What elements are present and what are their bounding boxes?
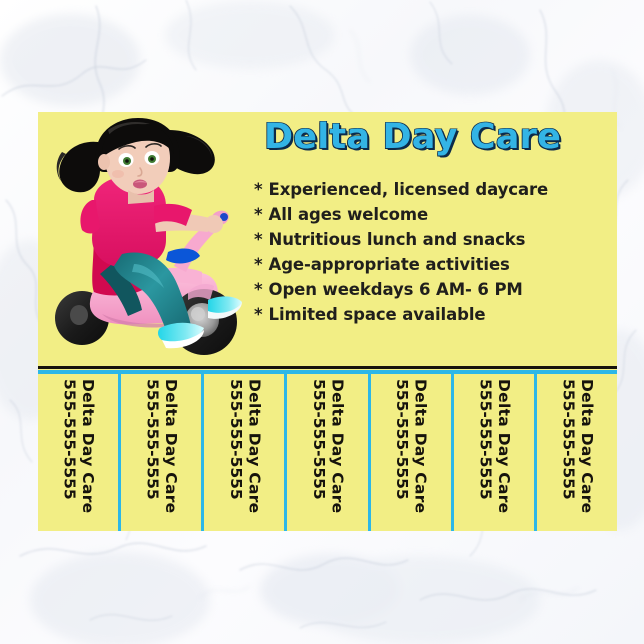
tearoff-tab[interactable]: Delta Day Care 555-555-5555 (204, 374, 287, 531)
tearoff-tab[interactable]: Delta Day Care 555-555-5555 (371, 374, 454, 531)
feature-text: Experienced, licensed daycare (269, 180, 549, 199)
girl-on-tricycle-illustration (42, 114, 254, 366)
tearoff-name: Delta Day Care (246, 379, 262, 514)
tearoff-tab[interactable]: Delta Day Care 555-555-5555 (537, 374, 617, 531)
tearoff-phone: 555-555-5555 (144, 379, 160, 500)
flyer-text-block: Delta Day Care *Experienced, licensed da… (254, 118, 614, 327)
tearoff-name: Delta Day Care (412, 379, 428, 514)
girl-on-tricycle-graphic (42, 114, 254, 366)
divider-rule-dark (38, 366, 617, 369)
feature-text: Limited space available (269, 305, 486, 324)
tearoff-tab[interactable]: Delta Day Care 555-555-5555 (38, 374, 121, 531)
feature-text: Age-appropriate activities (269, 255, 510, 274)
tearoff-strip: Delta Day Care 555-555-5555 Delta Day Ca… (38, 374, 617, 531)
feature-item: *Nutritious lunch and snacks (254, 227, 614, 252)
tearoff-phone: 555-555-5555 (477, 379, 493, 500)
tearoff-phone: 555-555-5555 (560, 379, 576, 500)
tearoff-name: Delta Day Care (329, 379, 345, 514)
tearoff-tab[interactable]: Delta Day Care 555-555-5555 (121, 374, 204, 531)
feature-text: All ages welcome (269, 205, 429, 224)
flyer-header-area: Delta Day Care *Experienced, licensed da… (38, 112, 617, 368)
bullet-marker-icon: * (254, 255, 263, 274)
tearoff-name: Delta Day Care (578, 379, 594, 514)
feature-item: *Open weekdays 6 AM- 6 PM (254, 277, 614, 302)
bullet-marker-icon: * (254, 205, 263, 224)
feature-item: *All ages welcome (254, 202, 614, 227)
tearoff-phone: 555-555-5555 (227, 379, 243, 500)
flyer-title: Delta Day Care (254, 118, 614, 157)
flyer-feature-list: *Experienced, licensed daycare *All ages… (254, 177, 614, 327)
tearoff-name: Delta Day Care (80, 379, 96, 514)
tearoff-phone: 555-555-5555 (394, 379, 410, 500)
daycare-flyer-card: Delta Day Care *Experienced, licensed da… (38, 112, 617, 531)
bullet-marker-icon: * (254, 180, 263, 199)
tearoff-phone: 555-555-5555 (310, 379, 326, 500)
tearoff-name: Delta Day Care (163, 379, 179, 514)
tearoff-phone: 555-555-5555 (61, 379, 77, 500)
tearoff-name: Delta Day Care (495, 379, 511, 514)
tearoff-tab[interactable]: Delta Day Care 555-555-5555 (287, 374, 370, 531)
bullet-marker-icon: * (254, 305, 263, 324)
tearoff-tab[interactable]: Delta Day Care 555-555-5555 (454, 374, 537, 531)
bullet-marker-icon: * (254, 280, 263, 299)
feature-item: *Limited space available (254, 302, 614, 327)
feature-text: Open weekdays 6 AM- 6 PM (269, 280, 523, 299)
bullet-marker-icon: * (254, 230, 263, 249)
feature-item: *Experienced, licensed daycare (254, 177, 614, 202)
feature-text: Nutritious lunch and snacks (269, 230, 526, 249)
feature-item: *Age-appropriate activities (254, 252, 614, 277)
